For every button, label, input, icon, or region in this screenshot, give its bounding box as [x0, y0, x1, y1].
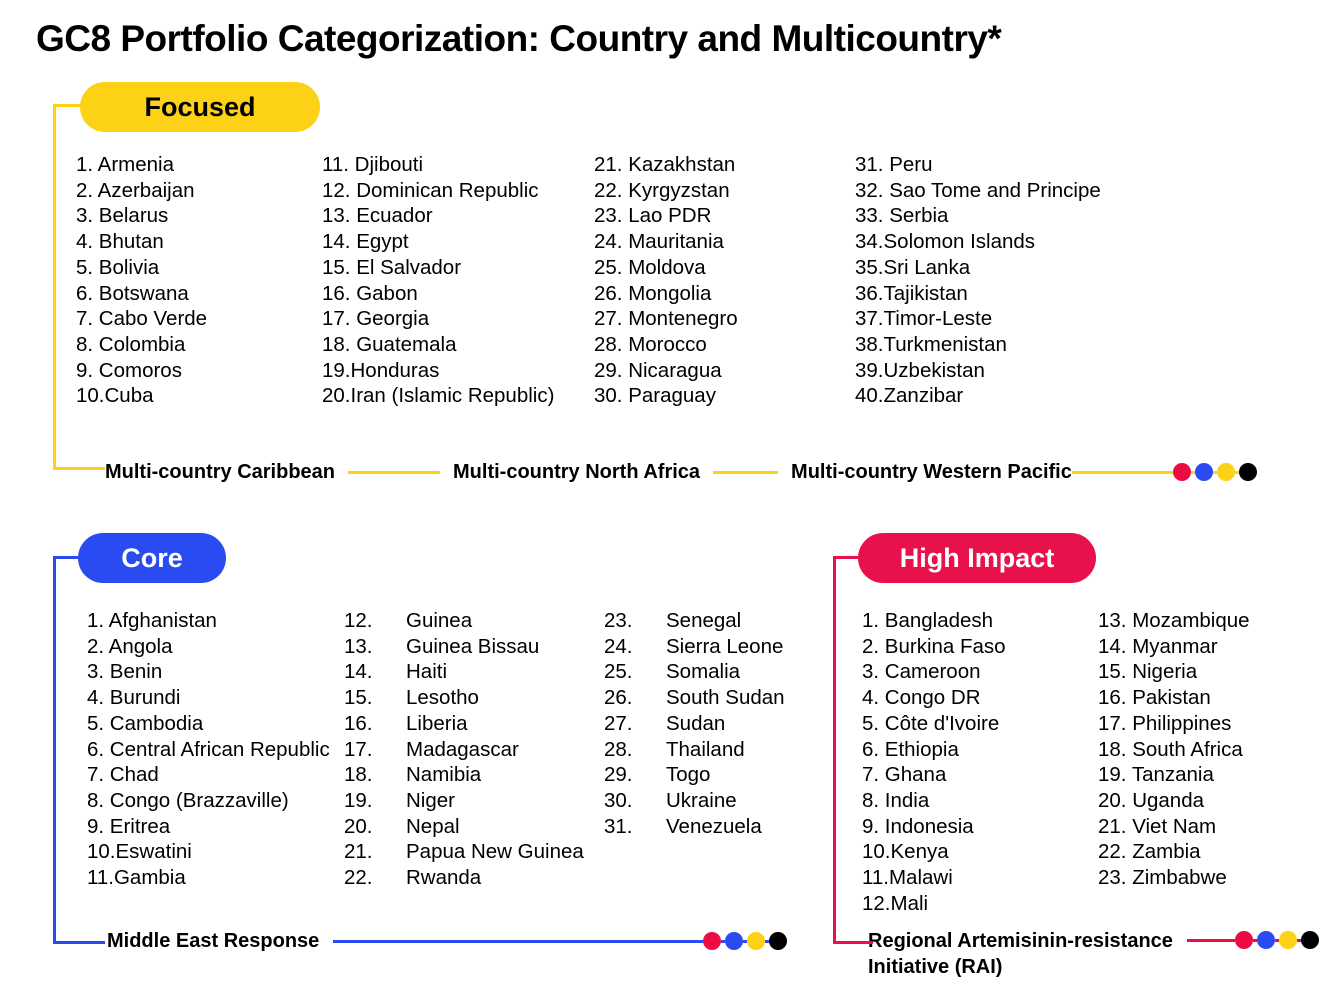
list-item-label: Liberia: [406, 712, 468, 735]
core-column-1: 1. Afghanistan 2. Angola 3. Benin 4. Bur…: [87, 608, 330, 891]
list-item: 36.Tajikistan: [855, 281, 1101, 307]
dot-blue-icon: [1195, 463, 1213, 481]
dot-blue-icon: [1257, 931, 1275, 949]
list-item-number: 25.: [604, 659, 666, 685]
list-item: 26. Mongolia: [594, 281, 738, 307]
status-dots-high-impact: [1235, 931, 1319, 949]
dot-yellow-icon: [747, 932, 765, 950]
list-item: 28.Thailand: [604, 737, 785, 763]
list-item-label: Nepal: [406, 815, 460, 838]
list-item: 14. Egypt: [322, 229, 554, 255]
list-item: 15. El Salvador: [322, 255, 554, 281]
list-item-number: 14.: [344, 659, 406, 685]
list-item: 18.Namibia: [344, 762, 584, 788]
list-item: 8. India: [862, 788, 1006, 814]
list-item: 7. Chad: [87, 762, 330, 788]
multicountry-label-rai-line1: Regional Artemisinin-resistance: [868, 928, 1173, 954]
focused-column-2: 11. Djibouti 12. Dominican Republic 13. …: [322, 152, 554, 409]
core-bracket: [53, 556, 105, 944]
list-item: 23. Lao PDR: [594, 203, 738, 229]
list-item-number: 24.: [604, 634, 666, 660]
list-item-number: 19.: [344, 788, 406, 814]
list-item: 25.Somalia: [604, 659, 785, 685]
list-item: 22. Kyrgyzstan: [594, 178, 738, 204]
list-item: 11. Djibouti: [322, 152, 554, 178]
list-item: 5. Cambodia: [87, 711, 330, 737]
list-item: 8. Congo (Brazzaville): [87, 788, 330, 814]
list-item: 4. Burundi: [87, 685, 330, 711]
list-item-label: Niger: [406, 789, 455, 812]
list-item-label: Guinea: [406, 609, 472, 632]
list-item: 31.Venezuela: [604, 814, 785, 840]
list-item: 18. South Africa: [1098, 737, 1250, 763]
list-item-label: South Sudan: [666, 686, 785, 709]
slide-canvas: GC8 Portfolio Categorization: Country an…: [0, 0, 1344, 1008]
list-item: 28. Morocco: [594, 332, 738, 358]
category-pill-core-label: Core: [121, 543, 183, 574]
list-item-number: 17.: [344, 737, 406, 763]
list-item: 34.Solomon Islands: [855, 229, 1101, 255]
focused-column-4: 31. Peru 32. Sao Tome and Principe 33. S…: [855, 152, 1101, 409]
multicountry-label-western-pacific: Multi-country Western Pacific: [791, 459, 1072, 485]
multicountry-label-middle-east: Middle East Response: [107, 928, 319, 954]
list-item-number: 21.: [344, 839, 406, 865]
list-item: 9. Eritrea: [87, 814, 330, 840]
list-item-number: 26.: [604, 685, 666, 711]
list-item: 25. Moldova: [594, 255, 738, 281]
list-item: 19. Tanzania: [1098, 762, 1250, 788]
list-item-number: 16.: [344, 711, 406, 737]
list-item: 3. Cameroon: [862, 659, 1006, 685]
list-item: 9. Indonesia: [862, 814, 1006, 840]
list-item-number: 15.: [344, 685, 406, 711]
list-item: 35.Sri Lanka: [855, 255, 1101, 281]
bracket-bottom-stub: [53, 467, 105, 470]
focused-bracket: [53, 104, 105, 470]
dot-red-icon: [1235, 931, 1253, 949]
list-item: 15.Lesotho: [344, 685, 584, 711]
multicountry-label-caribbean: Multi-country Caribbean: [105, 459, 335, 485]
connector-line: [1072, 471, 1173, 474]
list-item: 17.Madagascar: [344, 737, 584, 763]
list-item: 2. Burkina Faso: [862, 634, 1006, 660]
list-item: 32. Sao Tome and Principe: [855, 178, 1101, 204]
dot-black-icon: [769, 932, 787, 950]
list-item-label: Papua New Guinea: [406, 840, 584, 863]
category-pill-high-impact-label: High Impact: [900, 543, 1055, 574]
list-item: 20.Nepal: [344, 814, 584, 840]
list-item: 2. Angola: [87, 634, 330, 660]
list-item: 19.Honduras: [322, 358, 554, 384]
list-item-label: Sierra Leone: [666, 635, 783, 658]
list-item: 12.Mali: [862, 891, 1006, 917]
multicountry-label-rai-line2: Initiative (RAI): [868, 954, 1173, 980]
list-item: 17. Philippines: [1098, 711, 1250, 737]
dot-black-icon: [1301, 931, 1319, 949]
list-item-number: 31.: [604, 814, 666, 840]
list-item: 22. Zambia: [1098, 839, 1250, 865]
list-item-number: 23.: [604, 608, 666, 634]
list-item-number: 13.: [344, 634, 406, 660]
bracket-vertical: [53, 556, 56, 944]
list-item-label: Thailand: [666, 738, 745, 761]
list-item: 10.Eswatini: [87, 839, 330, 865]
connector-line: [713, 471, 778, 474]
list-item-number: 28.: [604, 737, 666, 763]
list-item-label: Lesotho: [406, 686, 479, 709]
list-item: 29. Nicaragua: [594, 358, 738, 384]
category-pill-core[interactable]: Core: [78, 533, 226, 583]
list-item: 16.Liberia: [344, 711, 584, 737]
list-item: 23.Senegal: [604, 608, 785, 634]
list-item: 24. Mauritania: [594, 229, 738, 255]
list-item: 10.Kenya: [862, 839, 1006, 865]
high-impact-multicountry-row: Regional Artemisinin-resistance Initiati…: [868, 928, 1319, 980]
list-item: 27.Sudan: [604, 711, 785, 737]
category-pill-high-impact[interactable]: High Impact: [858, 533, 1096, 583]
list-item: 3. Benin: [87, 659, 330, 685]
list-item-number: 12.: [344, 608, 406, 634]
list-item: 1. Bangladesh: [862, 608, 1006, 634]
list-item-label: Venezuela: [666, 815, 762, 838]
category-pill-focused-label: Focused: [144, 92, 255, 123]
list-item-label: Namibia: [406, 763, 481, 786]
list-item: 5. Côte d'Ivoire: [862, 711, 1006, 737]
high-impact-column-1: 1. Bangladesh 2. Burkina Faso 3. Cameroo…: [862, 608, 1006, 916]
list-item: 1. Afghanistan: [87, 608, 330, 634]
list-item: 24.Sierra Leone: [604, 634, 785, 660]
list-item: 26.South Sudan: [604, 685, 785, 711]
list-item: 13.Guinea Bissau: [344, 634, 584, 660]
list-item-number: 20.: [344, 814, 406, 840]
list-item: 12. Dominican Republic: [322, 178, 554, 204]
list-item-number: 27.: [604, 711, 666, 737]
category-pill-focused[interactable]: Focused: [80, 82, 320, 132]
list-item: 14.Haiti: [344, 659, 584, 685]
list-item: 30.Ukraine: [604, 788, 785, 814]
list-item: 23. Zimbabwe: [1098, 865, 1250, 891]
bracket-vertical: [833, 556, 836, 944]
list-item: 15. Nigeria: [1098, 659, 1250, 685]
list-item: 18. Guatemala: [322, 332, 554, 358]
list-item: 13. Mozambique: [1098, 608, 1250, 634]
list-item-number: 29.: [604, 762, 666, 788]
list-item: 6. Central African Republic: [87, 737, 330, 763]
focused-multicountry-row: Multi-country Caribbean Multi-country No…: [105, 459, 1257, 485]
connector-line: [348, 471, 440, 474]
core-column-3: 23.Senegal 24.Sierra Leone 25.Somalia 26…: [604, 608, 785, 839]
list-item-label: Sudan: [666, 712, 725, 735]
list-item: 31. Peru: [855, 152, 1101, 178]
list-item: 16. Gabon: [322, 281, 554, 307]
list-item: 19.Niger: [344, 788, 584, 814]
list-item: 30. Paraguay: [594, 383, 738, 409]
list-item: 22.Rwanda: [344, 865, 584, 891]
list-item-number: 22.: [344, 865, 406, 891]
core-column-2: 12.Guinea 13.Guinea Bissau 14.Haiti 15.L…: [344, 608, 584, 891]
list-item: 16. Pakistan: [1098, 685, 1250, 711]
list-item: 4. Congo DR: [862, 685, 1006, 711]
list-item-label: Somalia: [666, 660, 740, 683]
bracket-vertical: [53, 104, 56, 470]
list-item: 33. Serbia: [855, 203, 1101, 229]
bracket-bottom-stub: [53, 941, 105, 944]
multicountry-label-north-africa: Multi-country North Africa: [453, 459, 700, 485]
list-item: 29.Togo: [604, 762, 785, 788]
list-item: 11.Malawi: [862, 865, 1006, 891]
status-dots-focused: [1173, 463, 1257, 481]
list-item-label: Rwanda: [406, 866, 481, 889]
dot-red-icon: [1173, 463, 1191, 481]
list-item-label: Togo: [666, 763, 710, 786]
list-item: 21. Viet Nam: [1098, 814, 1250, 840]
bracket-bottom-stub: [833, 941, 873, 944]
list-item: 21.Papua New Guinea: [344, 839, 584, 865]
list-item-number: 18.: [344, 762, 406, 788]
list-item: 20. Uganda: [1098, 788, 1250, 814]
dot-yellow-icon: [1279, 931, 1297, 949]
list-item: 11.Gambia: [87, 865, 330, 891]
list-item: 7. Ghana: [862, 762, 1006, 788]
list-item: 38.Turkmenistan: [855, 332, 1101, 358]
list-item-label: Guinea Bissau: [406, 635, 539, 658]
list-item-label: Haiti: [406, 660, 447, 683]
list-item: 17. Georgia: [322, 306, 554, 332]
connector-line: [333, 940, 703, 943]
page-title: GC8 Portfolio Categorization: Country an…: [36, 18, 1001, 60]
list-item-number: 30.: [604, 788, 666, 814]
list-item: 37.Timor-Leste: [855, 306, 1101, 332]
connector-line: [1187, 939, 1235, 942]
list-item: 40.Zanzibar: [855, 383, 1101, 409]
list-item: 12.Guinea: [344, 608, 584, 634]
high-impact-bracket: [833, 556, 873, 944]
list-item: 20.Iran (Islamic Republic): [322, 383, 554, 409]
status-dots-core: [703, 932, 787, 950]
list-item-label: Senegal: [666, 609, 741, 632]
list-item: 14. Myanmar: [1098, 634, 1250, 660]
focused-column-3: 21. Kazakhstan 22. Kyrgyzstan 23. Lao PD…: [594, 152, 738, 409]
list-item: 13. Ecuador: [322, 203, 554, 229]
list-item: 39.Uzbekistan: [855, 358, 1101, 384]
dot-yellow-icon: [1217, 463, 1235, 481]
core-multicountry-row: Middle East Response: [107, 928, 787, 954]
list-item-label: Madagascar: [406, 738, 519, 761]
high-impact-column-2: 13. Mozambique 14. Myanmar 15. Nigeria 1…: [1098, 608, 1250, 891]
list-item-label: Ukraine: [666, 789, 737, 812]
list-item: 6. Ethiopia: [862, 737, 1006, 763]
dot-black-icon: [1239, 463, 1257, 481]
list-item: 21. Kazakhstan: [594, 152, 738, 178]
dot-red-icon: [703, 932, 721, 950]
dot-blue-icon: [725, 932, 743, 950]
list-item: 27. Montenegro: [594, 306, 738, 332]
